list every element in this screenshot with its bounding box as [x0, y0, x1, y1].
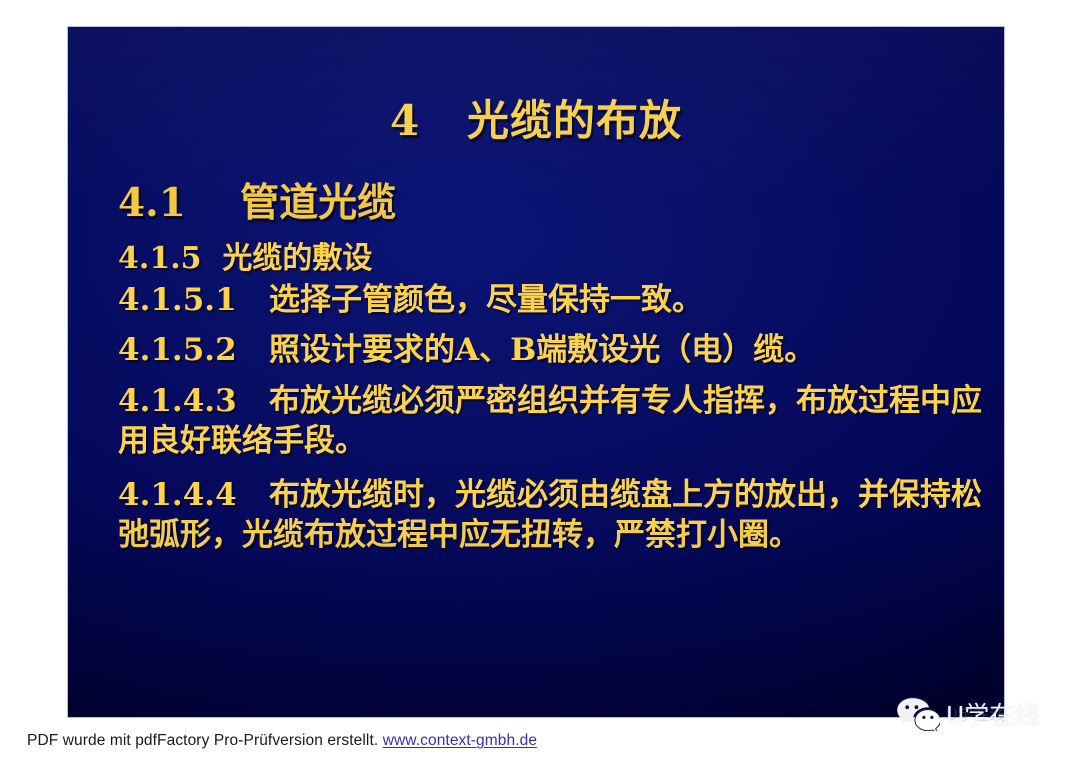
- slide-body: 4.1.5 光缆的敷设 4.1.5.1 选择子管颜色，尽量保持一致。 4.1.5…: [118, 239, 986, 556]
- footer-notice-text: PDF wurde mit pdfFactory Pro-Prüfversion…: [27, 732, 383, 749]
- paragraph-4-1-4-3: 4.1.4.3 布放光缆必须严密组织并有专人指挥，布放过程中应用良好联络手段。: [118, 381, 986, 462]
- pdf-footer-notice: PDF wurde mit pdfFactory Pro-Prüfversion…: [27, 732, 537, 750]
- slide-canvas: 4 光缆的布放 4.1 管道光缆 4.1.5 光缆的敷设 4.1.5.1 选择子…: [68, 27, 1004, 717]
- paragraph-4-1-5-1: 4.1.5.1 选择子管颜色，尽量保持一致。: [118, 280, 986, 320]
- paragraph-4-1-5: 4.1.5 光缆的敷设: [118, 239, 986, 278]
- footer-link[interactable]: www.context-gmbh.de: [383, 732, 537, 749]
- slide-title: 4 光缆的布放: [68, 87, 1004, 148]
- section-heading: 4.1 管道光缆: [118, 172, 396, 228]
- paragraph-4-1-4-4: 4.1.4.4 布放光缆时，光缆必须由缆盘上方的放出，并保持松弛弧形，光缆布放过…: [118, 475, 986, 556]
- paragraph-4-1-5-2: 4.1.5.2 照设计要求的A、B端敷设光（电）缆。: [118, 330, 986, 370]
- page-canvas: 4 光缆的布放 4.1 管道光缆 4.1.5 光缆的敷设 4.1.5.1 选择子…: [0, 0, 1080, 763]
